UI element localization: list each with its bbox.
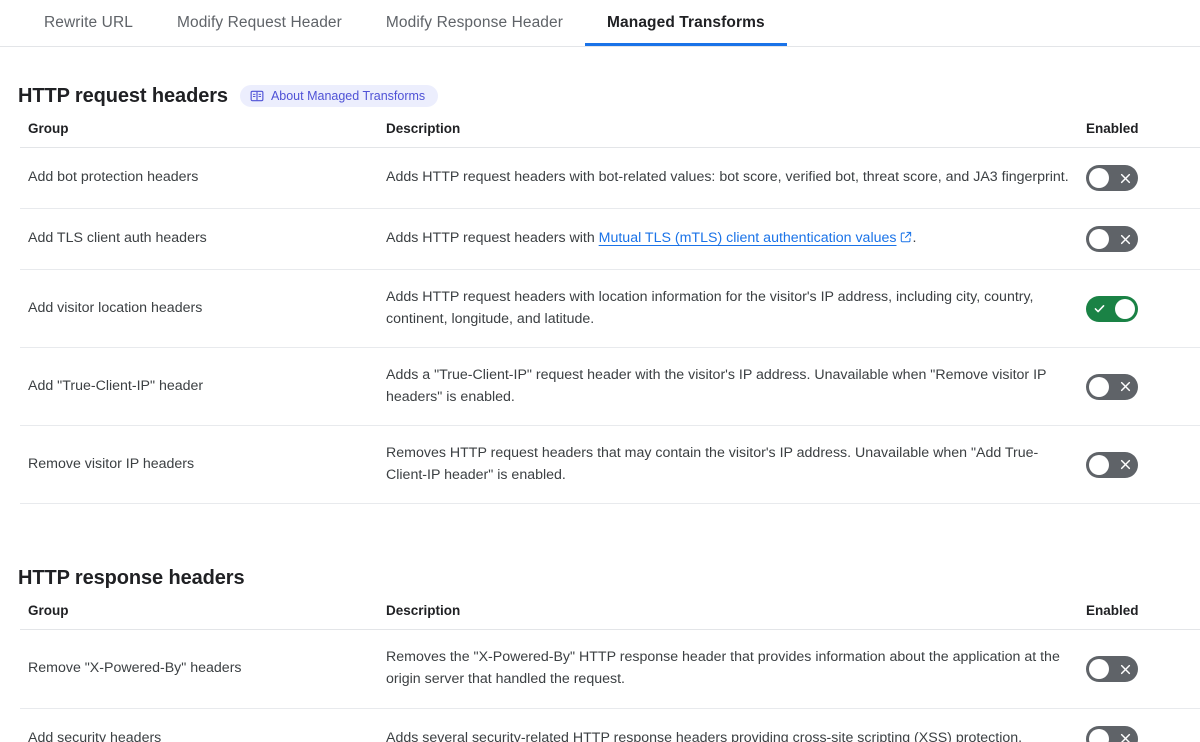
enabled-toggle[interactable] xyxy=(1086,452,1138,478)
description-prefix: Adds HTTP request headers with xyxy=(386,230,599,246)
enabled-toggle[interactable] xyxy=(1086,656,1138,682)
table-row: Add "True-Client-IP" header Adds a "True… xyxy=(20,348,1200,426)
section-http-request-headers: HTTP request headers About Managed Trans… xyxy=(0,80,1200,504)
section-spacer xyxy=(0,504,1200,529)
row-description: Adds several security-related HTTP respo… xyxy=(378,708,1078,742)
enabled-toggle[interactable] xyxy=(1086,726,1138,742)
row-description: Adds a "True-Client-IP" request header w… xyxy=(378,348,1078,426)
check-icon xyxy=(1086,296,1112,322)
close-icon xyxy=(1112,165,1138,191)
response-headers-table: Group Description Enabled Remove "X-Powe… xyxy=(20,594,1200,742)
external-link-icon xyxy=(900,229,912,251)
table-header-row: Group Description Enabled xyxy=(20,112,1200,148)
toggle-knob xyxy=(1089,168,1109,188)
enabled-toggle[interactable] xyxy=(1086,165,1138,191)
tab-bar: Rewrite URL Modify Request Header Modify… xyxy=(0,0,1200,47)
tab-managed-transforms[interactable]: Managed Transforms xyxy=(585,0,787,46)
row-description: Adds HTTP request headers with bot-relat… xyxy=(378,148,1078,209)
column-header-group: Group xyxy=(20,112,378,148)
table-row: Add security headers Adds several securi… xyxy=(20,708,1200,742)
row-group-name: Remove "X-Powered-By" headers xyxy=(20,630,378,708)
row-enabled-cell xyxy=(1078,708,1200,742)
section-header: HTTP request headers About Managed Trans… xyxy=(10,80,1190,112)
about-managed-transforms-badge[interactable]: About Managed Transforms xyxy=(240,85,438,107)
tab-label: Rewrite URL xyxy=(44,14,133,32)
section-title: HTTP response headers xyxy=(18,567,245,590)
row-enabled-cell xyxy=(1078,209,1200,270)
tab-label: Modify Request Header xyxy=(177,14,342,32)
tab-modify-response-header[interactable]: Modify Response Header xyxy=(364,0,585,46)
description-suffix: . xyxy=(912,230,916,246)
section-title: HTTP request headers xyxy=(18,85,228,108)
row-group-name: Remove visitor IP headers xyxy=(20,426,378,504)
table-row: Remove visitor IP headers Removes HTTP r… xyxy=(20,426,1200,504)
row-description: Removes the "X-Powered-By" HTTP response… xyxy=(378,630,1078,708)
section-header: HTTP response headers xyxy=(10,562,1190,594)
toggle-knob xyxy=(1089,729,1109,742)
section-http-response-headers: HTTP response headers Group Description … xyxy=(0,562,1200,742)
row-group-name: Add bot protection headers xyxy=(20,148,378,209)
row-group-name: Add security headers xyxy=(20,708,378,742)
row-description: Adds HTTP request headers with location … xyxy=(378,270,1078,348)
toggle-knob xyxy=(1089,455,1109,475)
column-header-description: Description xyxy=(378,112,1078,148)
close-icon xyxy=(1112,226,1138,252)
close-icon xyxy=(1112,726,1138,742)
row-enabled-cell xyxy=(1078,426,1200,504)
toggle-knob xyxy=(1089,377,1109,397)
row-description: Removes HTTP request headers that may co… xyxy=(378,426,1078,504)
toggle-knob xyxy=(1115,299,1135,319)
close-icon xyxy=(1112,656,1138,682)
row-enabled-cell xyxy=(1078,630,1200,708)
tab-label: Modify Response Header xyxy=(386,14,563,32)
close-icon xyxy=(1112,452,1138,478)
column-header-group: Group xyxy=(20,594,378,630)
row-enabled-cell xyxy=(1078,348,1200,426)
mtls-documentation-link[interactable]: Mutual TLS (mTLS) client authentication … xyxy=(599,230,897,246)
tab-label: Managed Transforms xyxy=(607,14,765,32)
row-description: Adds HTTP request headers with Mutual TL… xyxy=(378,209,1078,270)
tab-modify-request-header[interactable]: Modify Request Header xyxy=(155,0,364,46)
table-row: Add visitor location headers Adds HTTP r… xyxy=(20,270,1200,348)
column-header-enabled: Enabled xyxy=(1078,112,1200,148)
book-icon xyxy=(250,89,264,103)
managed-transforms-page: Rewrite URL Modify Request Header Modify… xyxy=(0,0,1200,742)
toggle-knob xyxy=(1089,229,1109,249)
enabled-toggle[interactable] xyxy=(1086,226,1138,252)
toggle-knob xyxy=(1089,659,1109,679)
badge-label: About Managed Transforms xyxy=(271,90,425,103)
column-header-description: Description xyxy=(378,594,1078,630)
row-enabled-cell xyxy=(1078,270,1200,348)
row-group-name: Add TLS client auth headers xyxy=(20,209,378,270)
enabled-toggle[interactable] xyxy=(1086,296,1138,322)
enabled-toggle[interactable] xyxy=(1086,374,1138,400)
row-group-name: Add visitor location headers xyxy=(20,270,378,348)
table-row: Add bot protection headers Adds HTTP req… xyxy=(20,148,1200,209)
table-row: Add TLS client auth headers Adds HTTP re… xyxy=(20,209,1200,270)
close-icon xyxy=(1112,374,1138,400)
link-label: Mutual TLS (mTLS) client authentication … xyxy=(599,230,897,246)
row-group-name: Add "True-Client-IP" header xyxy=(20,348,378,426)
table-row: Remove "X-Powered-By" headers Removes th… xyxy=(20,630,1200,708)
request-headers-table: Group Description Enabled Add bot protec… xyxy=(20,112,1200,504)
tab-rewrite-url[interactable]: Rewrite URL xyxy=(22,0,155,46)
row-enabled-cell xyxy=(1078,148,1200,209)
table-header-row: Group Description Enabled xyxy=(20,594,1200,630)
column-header-enabled: Enabled xyxy=(1078,594,1200,630)
